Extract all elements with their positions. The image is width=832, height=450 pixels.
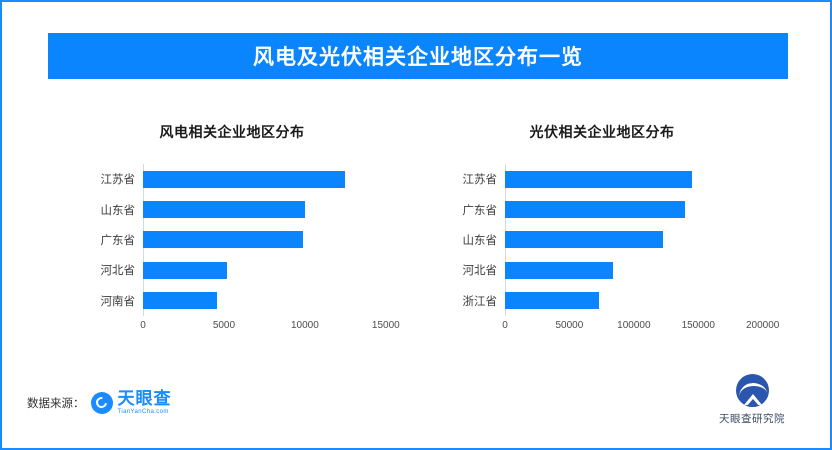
bar bbox=[143, 171, 345, 188]
institute-logo: 天眼查研究院 bbox=[702, 374, 802, 426]
tianyancha-logo: 天眼查 TianYanCha.com bbox=[91, 390, 172, 415]
x-tick-label: 5000 bbox=[213, 320, 235, 331]
chart-title: 风电相关企业地区分布 bbox=[62, 112, 402, 142]
title-banner: 风电及光伏相关企业地区分布一览 bbox=[48, 33, 788, 79]
bar-row: 广东省 bbox=[505, 194, 782, 224]
institute-name: 天眼查研究院 bbox=[719, 411, 785, 426]
bar-category-label: 河南省 bbox=[101, 293, 136, 309]
bar bbox=[505, 171, 692, 188]
x-tick-label: 0 bbox=[502, 320, 508, 331]
tianyancha-wordmark: 天眼查 TianYanCha.com bbox=[118, 390, 172, 415]
bar-row: 浙江省 bbox=[505, 286, 782, 316]
bar-category-label: 江苏省 bbox=[463, 171, 498, 187]
x-tick-label: 10000 bbox=[291, 320, 319, 331]
x-tick-label: 15000 bbox=[372, 320, 400, 331]
institute-emblem-icon bbox=[736, 374, 769, 407]
chart-wind-power: 风电相关企业地区分布 江苏省山东省广东省河北省河南省 0500010000150… bbox=[62, 112, 402, 362]
bar-category-label: 河北省 bbox=[463, 262, 498, 278]
page-title: 风电及光伏相关企业地区分布一览 bbox=[253, 41, 583, 71]
x-tick-label: 200000 bbox=[746, 320, 779, 331]
bar bbox=[143, 201, 305, 218]
brand-name-en: TianYanCha.com bbox=[118, 409, 172, 415]
bar bbox=[143, 231, 303, 248]
bar-category-label: 广东省 bbox=[101, 232, 136, 248]
plot-area: 江苏省广东省山东省河北省浙江省 050000100000150000200000 bbox=[422, 164, 782, 334]
data-source: 数据来源： 天眼查 TianYanCha.com bbox=[27, 390, 172, 415]
bar bbox=[505, 262, 613, 279]
bar bbox=[505, 292, 599, 309]
bar-row: 江苏省 bbox=[143, 164, 402, 194]
bar-category-label: 山东省 bbox=[463, 232, 498, 248]
tianyancha-eye-icon bbox=[91, 392, 113, 414]
bar-category-label: 江苏省 bbox=[101, 171, 136, 187]
bar-category-label: 山东省 bbox=[101, 202, 136, 218]
chart-title: 光伏相关企业地区分布 bbox=[422, 112, 782, 142]
bar bbox=[505, 201, 685, 218]
plot-area: 江苏省山东省广东省河北省河南省 050001000015000 bbox=[62, 164, 402, 334]
x-tick-label: 100000 bbox=[617, 320, 650, 331]
bar-row: 山东省 bbox=[505, 225, 782, 255]
x-tick-label: 150000 bbox=[682, 320, 715, 331]
bar-rows: 江苏省山东省广东省河北省河南省 bbox=[143, 164, 402, 316]
bar bbox=[505, 231, 663, 248]
bar-row: 江苏省 bbox=[505, 164, 782, 194]
bar-row: 广东省 bbox=[143, 225, 402, 255]
bar-category-label: 广东省 bbox=[463, 202, 498, 218]
peak-inner-shape bbox=[746, 399, 760, 407]
bar-rows: 江苏省广东省山东省河北省浙江省 bbox=[505, 164, 782, 316]
bar-row: 河北省 bbox=[505, 255, 782, 285]
bar bbox=[143, 292, 217, 309]
bar-row: 山东省 bbox=[143, 194, 402, 224]
data-source-label: 数据来源： bbox=[27, 395, 85, 411]
chart-photovoltaic: 光伏相关企业地区分布 江苏省广东省山东省河北省浙江省 0500001000001… bbox=[422, 112, 782, 362]
bar bbox=[143, 262, 227, 279]
infographic-page: 风电及光伏相关企业地区分布一览 风电相关企业地区分布 江苏省山东省广东省河北省河… bbox=[0, 0, 832, 450]
bar-category-label: 浙江省 bbox=[463, 293, 498, 309]
x-axis-ticks: 050000100000150000200000 bbox=[505, 316, 782, 334]
x-axis-ticks: 050001000015000 bbox=[143, 316, 402, 334]
brand-name-cn: 天眼查 bbox=[118, 390, 172, 407]
bar-category-label: 河北省 bbox=[101, 262, 136, 278]
bar-row: 河北省 bbox=[143, 255, 402, 285]
bar-row: 河南省 bbox=[143, 286, 402, 316]
x-tick-label: 0 bbox=[140, 320, 146, 331]
x-tick-label: 50000 bbox=[556, 320, 584, 331]
